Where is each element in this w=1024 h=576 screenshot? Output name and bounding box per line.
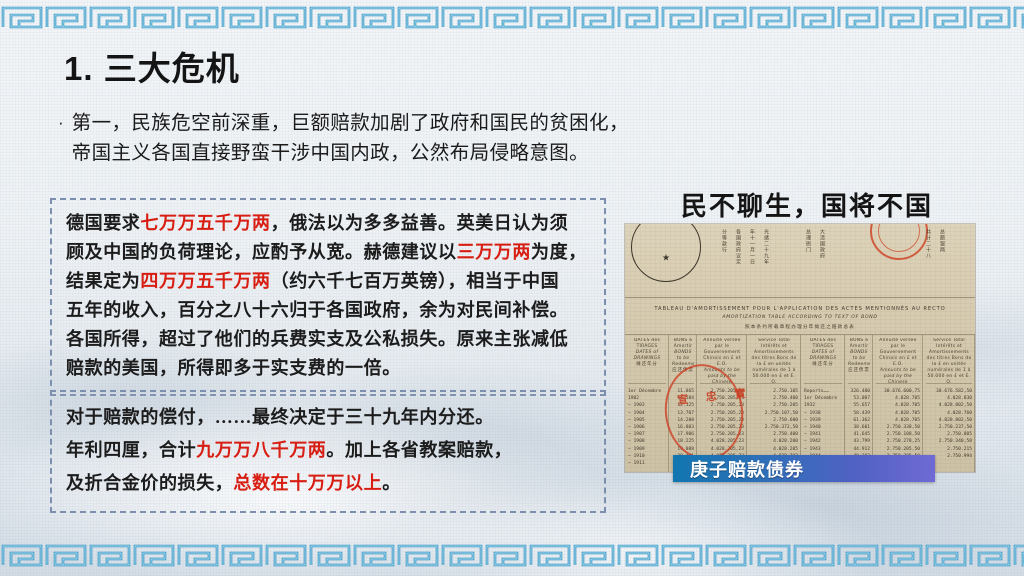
table-row: 2.750.340,50 bbox=[926, 438, 972, 445]
amortization-column-header: BONS à AmortirBONDS to be Redeemed应还债票 bbox=[848, 338, 870, 384]
quote-line: 对于赔款的偿付，……最终决定于三十九年内分还。 bbox=[66, 401, 592, 434]
table-row: 4.028.802,50 bbox=[926, 402, 972, 409]
amortization-table-column: Service Total Intérêts et Amortissements… bbox=[747, 335, 801, 472]
table-row: 2.750.400 bbox=[750, 431, 798, 438]
table-row: 2.750.400 bbox=[750, 395, 798, 402]
header-chinese: 摊还年分 bbox=[804, 362, 842, 368]
greek-key-icon bbox=[0, 4, 1024, 30]
header-french: Service Total Intérêts et Amortissements… bbox=[750, 338, 798, 384]
table-row: 4.028.760 bbox=[926, 410, 972, 417]
quote-text-run: 五年的收入，百分之八十六归于各国政府，余为对民间补偿。 bbox=[66, 300, 568, 320]
table-row: — 1939 bbox=[804, 417, 842, 424]
bond-document-header: 分等款行 各国政府议定 年十一月一日 光绪二十九年 总理衙门 大清国政府 共计二… bbox=[625, 224, 975, 298]
quote-text-run: 各国所得，超过了他们的兵费实支及公私损失。原来主张减低 bbox=[66, 329, 568, 349]
table-row: 30.676.582,50 bbox=[926, 388, 972, 395]
quote-line: 赔款的美国，所得即多于实支费的一倍。 bbox=[66, 354, 592, 383]
header-english: Amounts to be paid by the Chinese Govern… bbox=[876, 368, 920, 384]
table-row: — 1903 bbox=[628, 402, 666, 409]
table-row: 58.439 bbox=[848, 410, 870, 417]
table-row: 30.676.600,75 bbox=[876, 388, 920, 395]
quote-text-run: 赔款的美国，所得即多于实支费的一倍。 bbox=[66, 358, 401, 378]
bond-vertical-text: 光绪二十九年 bbox=[759, 229, 769, 293]
table-row: 2.750.215 bbox=[926, 446, 972, 453]
amortization-column-header: Service Total Intérêts et Amortissements… bbox=[750, 338, 798, 384]
table-row: — 1907 bbox=[628, 431, 666, 438]
table-row: 2.750.805 bbox=[926, 431, 972, 438]
amortization-column-header: DATES des TIRAGESDATES of DRAWINGS摊还年分 bbox=[804, 338, 842, 384]
highlighted-figure: 四万万五千万两 bbox=[140, 271, 270, 291]
table-row: 1er Décembre 1932 bbox=[804, 395, 842, 409]
amortization-column-header: DATES des TIRAGESDATES of DRAWINGS摊还年分 bbox=[628, 338, 666, 384]
header-french: BONS à Amortir bbox=[848, 338, 870, 350]
bullet-marker-icon: · bbox=[58, 108, 64, 138]
header-french: Annuité versée par le Gouvernement Chino… bbox=[876, 338, 920, 368]
table-row: — 1905 bbox=[628, 417, 666, 424]
bond-title-english: AMORTIZATION TABLE ACCORDING TO TEXT OF … bbox=[625, 315, 975, 320]
bond-vertical-text: 总额银两 bbox=[935, 229, 945, 293]
bond-vertical-text: 大清国政府 bbox=[815, 229, 825, 293]
header-chinese: 摊还年分 bbox=[628, 362, 666, 368]
table-row: 2.750.105 bbox=[750, 388, 798, 395]
slide-canvas: 1. 三大危机 · 第一，民族危空前深重，巨额赔款加剧了政府和国民的贫困化， 帝… bbox=[0, 0, 1024, 576]
quote-line: 各国所得，超过了他们的兵费实支及公私损失。原来主张减低 bbox=[66, 325, 592, 354]
quote-line: 及折合金价的损失，总数在十万万以上。 bbox=[66, 467, 592, 500]
quote-text-run: 。 bbox=[382, 473, 401, 493]
table-row: 4.028.830 bbox=[926, 395, 972, 402]
right-column-heading: 民不聊生，国将不国 bbox=[681, 186, 933, 223]
table-row: 53.007 bbox=[848, 395, 870, 402]
table-row: 55.657 bbox=[848, 402, 870, 409]
table-row: — 1943 bbox=[804, 446, 842, 453]
table-row: — 1909 bbox=[628, 446, 666, 453]
bond-title-chinese: 照本条约所载章程办理分年摊还之赔款总表 bbox=[625, 324, 975, 330]
table-row: — 1904 bbox=[628, 410, 666, 417]
bullet-line: 第一，民族危空前深重，巨额赔款加剧了政府和国民的贫困化， bbox=[72, 108, 629, 138]
table-row: 43.799 bbox=[848, 438, 870, 445]
table-row: 4.028.705 bbox=[876, 417, 920, 424]
quote-box-primary-body: 德国要求七万万五千万两，俄法以为多多益善。英美日认为须顾及中国的负荷理论，应酌予… bbox=[66, 209, 592, 383]
header-english: DATES of DRAWINGS bbox=[628, 350, 666, 362]
table-row: 2.750.278,25 bbox=[876, 438, 920, 445]
table-row: 41.645 bbox=[848, 431, 870, 438]
bond-vertical-text: 总理衙门 bbox=[801, 229, 811, 293]
header-chinese: 应还债票 bbox=[848, 368, 870, 374]
amortization-column-rows: 30.676.582,504.028.8304.028.802,504.028.… bbox=[926, 384, 972, 460]
bond-title-french: TABLEAU D'AMORTISSEMENT POUR L'APPLICATI… bbox=[625, 306, 975, 312]
quote-text-run: 对于赔款的偿付，……最终决定于三十九年内分还。 bbox=[66, 407, 494, 427]
table-row: 326.480 bbox=[848, 388, 870, 395]
table-row: 2.750.338,50 bbox=[876, 424, 920, 431]
quote-line: 顾及中国的负荷理论，应酌予从宽。赫德建议以三万万两为度， bbox=[66, 238, 592, 267]
image-caption-text: 庚子赔款债券 bbox=[690, 456, 804, 482]
amortization-column-header: Service Total Intérêts et Amortissements… bbox=[926, 338, 972, 384]
amortization-column-rows: 326.48053.00755.65758.43961.36238.60141.… bbox=[848, 384, 870, 460]
quote-line: 五年的收入，百分之八十六归于各国政府，余为对民间补偿。 bbox=[66, 296, 592, 325]
bond-document-image: 分等款行 各国政府议定 年十一月一日 光绪二十九年 总理衙门 大清国政府 共计二… bbox=[625, 224, 975, 472]
table-row: 38.601 bbox=[848, 424, 870, 431]
quote-text-run: 。加上各省教案赔款， bbox=[326, 440, 512, 460]
bullet-paragraph: · 第一，民族危空前深重，巨额赔款加剧了政府和国民的贫困化， 帝国主义各国直接野… bbox=[58, 108, 778, 168]
table-row: 2.750.237,50 bbox=[926, 424, 972, 431]
amortization-column-rows: 30.676.600,754.028.7054.028.7054.028.705… bbox=[876, 384, 920, 460]
page-title: 1. 三大危机 bbox=[64, 42, 240, 90]
table-row: 61.362 bbox=[848, 417, 870, 424]
table-row: 1er Décembre 1902 bbox=[628, 388, 666, 402]
amortization-table-column: Service Total Intérêts et Amortissements… bbox=[923, 335, 975, 472]
top-border-decoration bbox=[0, 4, 1024, 30]
bullet-paragraph-text: 第一，民族危空前深重，巨额赔款加剧了政府和国民的贫困化， 帝国主义各国直接野蛮干… bbox=[72, 108, 629, 168]
quote-line: 结果定为四万万五千万两（约六千七百万英镑），相当于中国 bbox=[66, 267, 592, 296]
highlighted-figure: 总数在十万万以上 bbox=[233, 473, 382, 493]
highlighted-figure: 九万万八千万两 bbox=[196, 440, 326, 460]
table-row: — 1942 bbox=[804, 438, 842, 445]
table-row: — 1938 bbox=[804, 410, 842, 417]
header-french: BONS à Amortir bbox=[672, 338, 694, 350]
table-row: — 1911 bbox=[628, 460, 666, 467]
amortization-table-column: DATES des TIRAGESDATES of DRAWINGS摊还年分Re… bbox=[801, 335, 845, 472]
table-row: 2.750.108,50 bbox=[876, 431, 920, 438]
image-caption-banner: 庚子赔款债券 bbox=[673, 455, 935, 482]
table-row: 4.028.205 bbox=[750, 446, 798, 453]
table-row: 44.912 bbox=[848, 446, 870, 453]
table-row: — 1910 bbox=[628, 453, 666, 460]
highlighted-figure: 七万万五千万两 bbox=[140, 213, 270, 233]
table-row: Reports…… bbox=[804, 388, 842, 395]
institution-seal-icon bbox=[631, 224, 701, 282]
amortization-table-column: Annuité versée par le Gouvernement Chino… bbox=[873, 335, 923, 472]
table-row: 4.028.705 bbox=[876, 395, 920, 402]
amortization-column-rows: 2.750.1052.750.4002.750.2052.750.107,502… bbox=[750, 384, 798, 460]
table-row: 2.750.372,50 bbox=[750, 424, 798, 431]
table-row: — 1908 bbox=[628, 438, 666, 445]
table-row: 2.750.600 bbox=[750, 417, 798, 424]
quote-box-secondary-body: 对于赔款的偿付，……最终决定于三十九年内分还。年利四厘，合计九万万八千万两。加上… bbox=[66, 401, 592, 500]
table-row: 2.750.205 bbox=[750, 402, 798, 409]
quote-text-run: 年利四厘，合计 bbox=[66, 440, 196, 460]
quote-text-run: 结果定为 bbox=[66, 271, 140, 291]
quote-text-run: 为度， bbox=[531, 242, 587, 262]
quote-text-run: 德国要求 bbox=[66, 213, 140, 233]
quote-box-primary: 德国要求七万万五千万两，俄法以为多多益善。英美日认为须顾及中国的负荷理论，应酌予… bbox=[50, 198, 606, 396]
bond-vertical-text: 共计二十八 bbox=[921, 229, 931, 293]
table-row: — 1940 bbox=[804, 424, 842, 431]
highlighted-figure: 三万万两 bbox=[457, 242, 531, 262]
table-row: 4.028.705 bbox=[876, 410, 920, 417]
quote-line: 德国要求七万万五千万两，俄法以为多多益善。英美日认为须 bbox=[66, 209, 592, 238]
bottom-border-decoration bbox=[0, 542, 1024, 568]
table-row: 2.750.107,50 bbox=[750, 410, 798, 417]
table-row: — 1906 bbox=[628, 424, 666, 431]
header-english: BONDS to be Redeemed bbox=[848, 350, 870, 368]
table-row: 4.028.705 bbox=[876, 402, 920, 409]
table-row: 4.028.802,50 bbox=[926, 417, 972, 424]
amortization-column-header: Annuité versée par le Gouvernement Chino… bbox=[876, 338, 920, 384]
header-french: DATES des TIRAGES bbox=[804, 338, 842, 350]
bond-vertical-text: 各国政府议定 bbox=[731, 229, 741, 293]
quote-text-run: 顾及中国的负荷理论，应酌予从宽。赫德建议以 bbox=[66, 242, 457, 262]
amortization-table-column: BONS à AmortirBONDS to be Redeemed应还债票32… bbox=[845, 335, 873, 472]
greek-key-icon bbox=[0, 542, 1024, 568]
header-french: Service Total Intérêts et Amortissements… bbox=[926, 338, 972, 384]
bullet-line: 帝国主义各国直接野蛮干涉中国内政，公然布局侵略意图。 bbox=[72, 138, 629, 168]
header-english: DATES of DRAWINGS bbox=[804, 350, 842, 362]
quote-box-secondary: 对于赔款的偿付，……最终决定于三十九年内分还。年利四厘，合计九万万八千万两。加上… bbox=[50, 390, 606, 513]
quote-text-run: 及折合金价的损失， bbox=[66, 473, 233, 493]
amortization-table-column: DATES des TIRAGESDATES of DRAWINGS摊还年分1e… bbox=[625, 335, 669, 472]
table-row: 2.750.205,50 bbox=[876, 446, 920, 453]
quote-line: 年利四厘，合计九万万八千万两。加上各省教案赔款， bbox=[66, 434, 592, 467]
bond-vertical-text: 年十一月一日 bbox=[745, 229, 755, 293]
table-row: 4.028.200 bbox=[750, 438, 798, 445]
table-row: — 1941 bbox=[804, 431, 842, 438]
header-french: DATES des TIRAGES bbox=[628, 338, 666, 350]
amortization-column-rows: 1er Décembre 1902— 1903— 1904— 1905— 190… bbox=[628, 384, 666, 467]
bond-vertical-text: 分等款行 bbox=[717, 229, 727, 293]
quote-text-run: （约六千七百万英镑），相当于中国 bbox=[271, 271, 560, 291]
quote-text-run: ，俄法以为多多益善。英美日认为须 bbox=[271, 213, 569, 233]
